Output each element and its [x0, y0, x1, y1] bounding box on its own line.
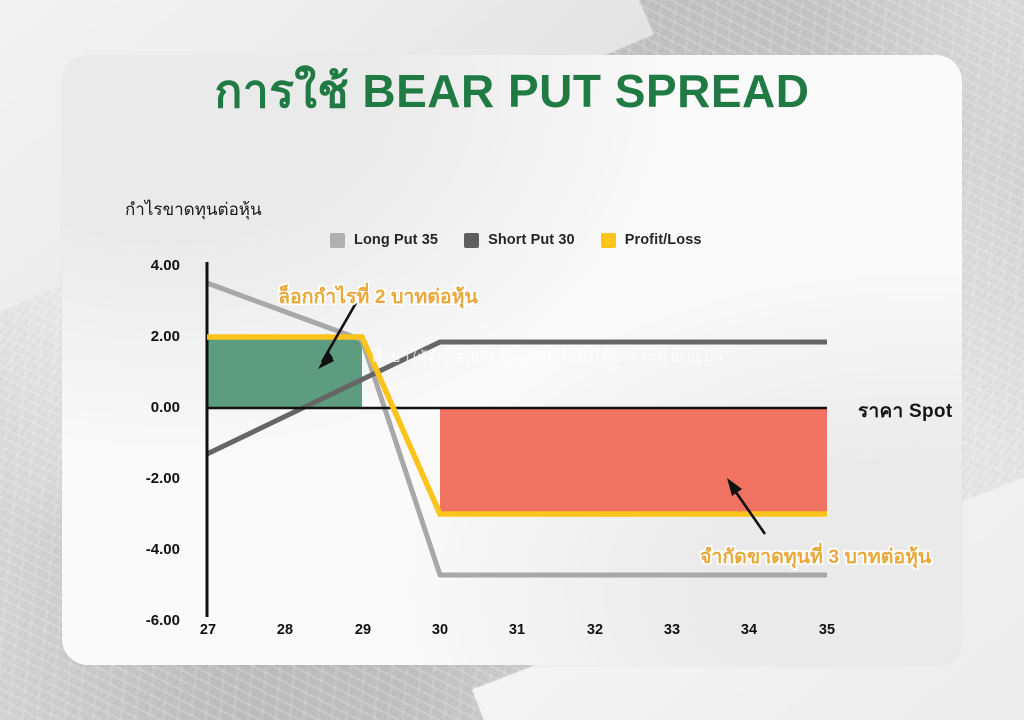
chart-watermark: ศึกษาให้ลึกก่อนเริ่มต้น ผลกำไรไม่ได้มาจา… — [372, 345, 723, 369]
profit-region-fill — [207, 337, 362, 408]
poster-canvas: การใช้ BEAR PUT SPREAD กำไรขาดทุนต่อหุ้น… — [0, 0, 1024, 720]
annotation-profit-lock: ล็อกกำไรที่ 2 บาทต่อหุ้น — [278, 281, 478, 312]
annotation-loss-cap: จำกัดขาดทุนที่ 3 บาทต่อหุ้น — [700, 541, 931, 572]
loss-region-fill — [440, 408, 827, 514]
